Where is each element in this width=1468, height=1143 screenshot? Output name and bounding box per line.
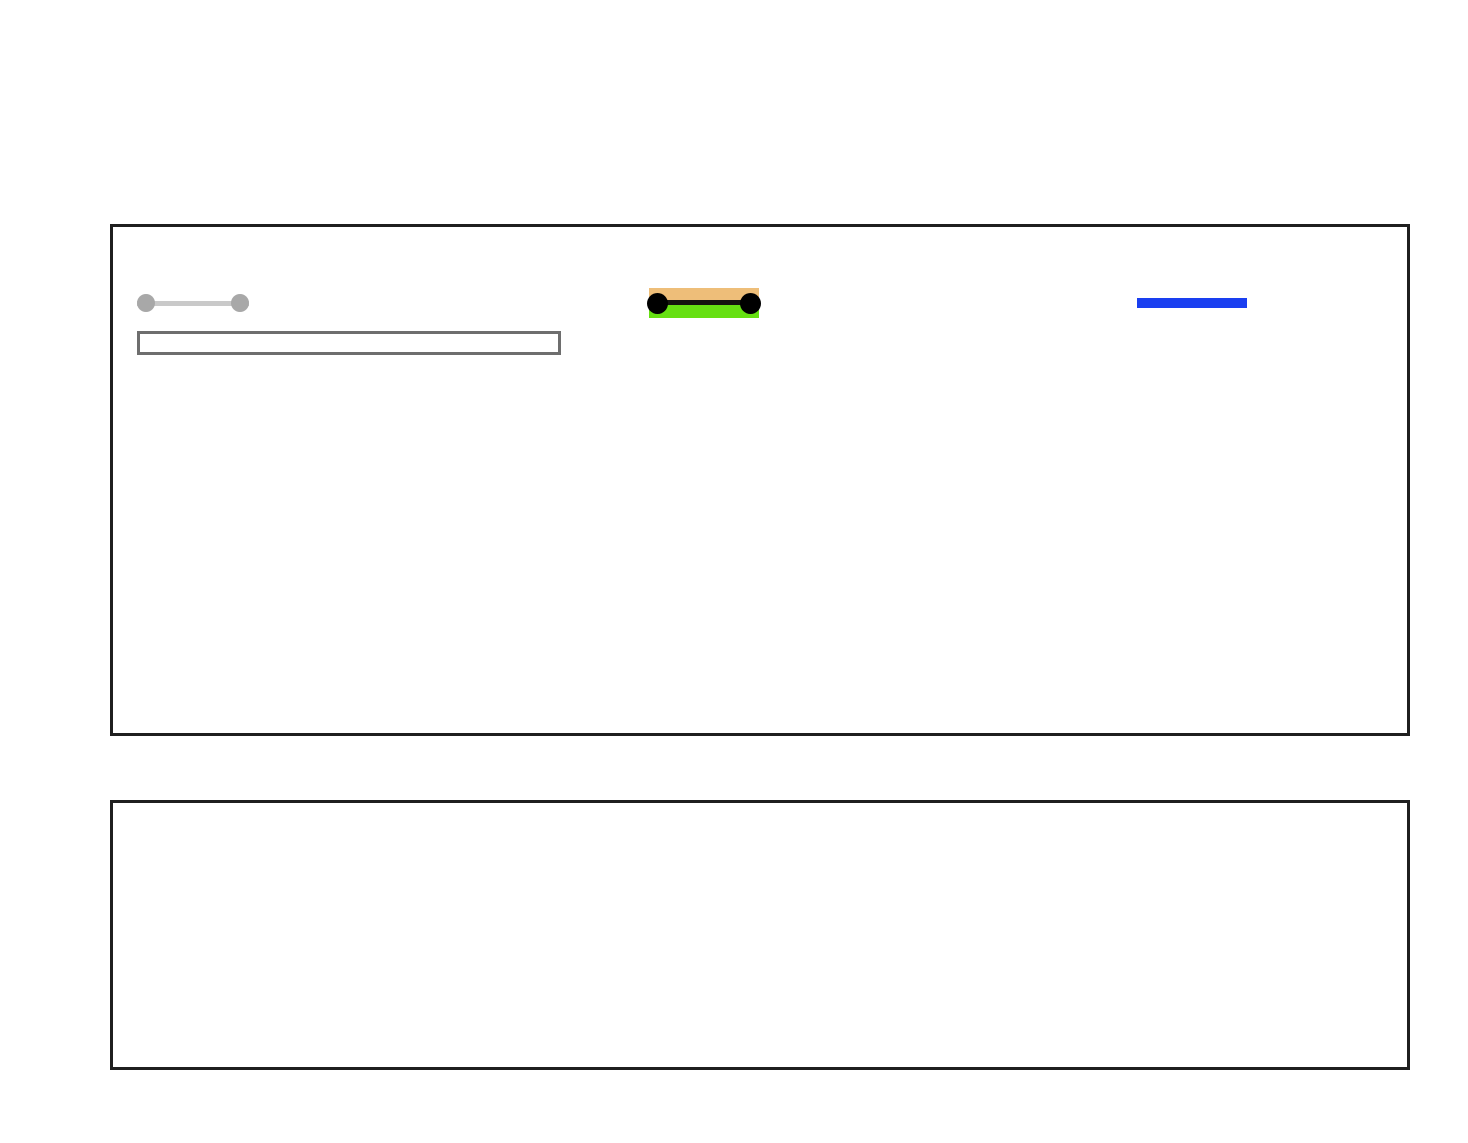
chart-page [0,0,1468,1143]
crop-amount-1 [300,342,422,344]
legend-item-ensemble-average [649,283,773,323]
ensemble-members-swatch-icon [137,292,249,314]
daily-precipitation-chart [110,800,1410,1070]
ensemble-average-swatch-icon [649,288,759,318]
crop-amount-0 [178,342,300,344]
percent-of-crop-table [154,340,544,344]
cumulative-precipitation-chart [110,224,1410,736]
crop-row-label-receives [154,342,178,344]
percent-of-crop-box [137,331,561,355]
table-row [154,342,544,344]
bottom-chart-plot-area [113,803,1407,1067]
normal-line-swatch-icon [1137,298,1247,308]
crop-amount-2 [422,342,544,344]
legend-item-normal [1137,283,1261,323]
chart-legend [137,283,1387,323]
legend-item-ensemble-members [137,283,263,323]
